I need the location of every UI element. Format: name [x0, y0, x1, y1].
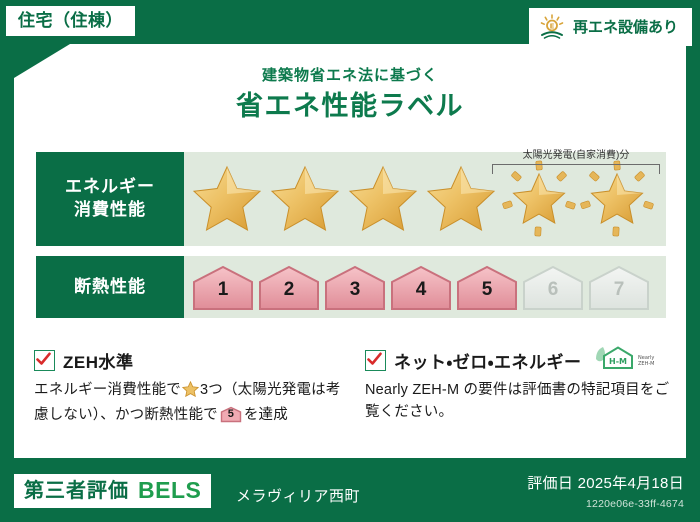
criterion-net-zero-energy: ネット・ゼロ・エネルギー H-M Nearly ZEH-M Nearly ZEH… — [365, 348, 674, 427]
category-tag: 住宅（住棟） — [6, 6, 135, 36]
insulation-levels: 1 2 3 — [184, 256, 666, 318]
insulation-row-label: 断熱性能 — [36, 256, 184, 318]
page-title: 省エネ性能ラベル — [0, 84, 700, 123]
criterion-zeh-level: ZEH水準 エネルギー消費性能で3つ（太陽光発電は考慮しない）、かつ断熱性能で5… — [34, 348, 343, 427]
star-filled — [422, 152, 500, 246]
solar-annotation-label: 太陽光発電(自家消費)分 — [492, 151, 660, 161]
checkbox-checked-icon — [34, 350, 55, 371]
insulation-level: 4 — [388, 256, 454, 318]
energy-label-line2: 消費性能 — [74, 199, 146, 222]
solar-annotation-bracket — [492, 164, 660, 174]
energy-performance-label: 住宅（住棟） E 再エネ設備あり 建築物省エネ法に基づく 省エネ性能ラベル — [0, 0, 700, 522]
criterion-header: ネット・ゼロ・エネルギー H-M Nearly ZEH-M — [365, 348, 674, 372]
insulation-level-number: 6 — [520, 280, 586, 299]
insulation-level-number: 7 — [586, 280, 652, 299]
checkbox-checked-icon — [365, 350, 386, 371]
energy-label-line1: エネルギー — [65, 176, 155, 199]
bels-logo-text: BELS — [138, 479, 201, 502]
insulation-level: 7 — [586, 256, 652, 318]
rating-rows: エネルギー 消費性能 太陽光発電(自家消費)分 — [36, 152, 666, 328]
insulation-level-number: 5 — [454, 280, 520, 299]
criterion-title: ネット・ゼロ・エネルギー — [394, 348, 582, 373]
renewable-energy-badge: E 再エネ設備あり — [529, 8, 692, 46]
criterion-title: ZEH水準 — [63, 348, 134, 373]
inline-badge-value: 5 — [220, 409, 242, 420]
energy-row-body: 太陽光発電(自家消費)分 — [184, 152, 666, 246]
insulation-level: 5 — [454, 256, 520, 318]
insulation-level: 6 — [520, 256, 586, 318]
star-filled — [188, 152, 266, 246]
star-filled — [344, 152, 422, 246]
criteria-section: ZEH水準 エネルギー消費性能で3つ（太陽光発電は考慮しない）、かつ断熱性能で5… — [34, 348, 674, 427]
criterion-body-post: を達成 — [244, 407, 288, 423]
insulation-level: 3 — [322, 256, 388, 318]
insulation-level-number: 3 — [322, 280, 388, 299]
solar-annotation: 太陽光発電(自家消費)分 — [492, 151, 660, 174]
inline-star-icon — [182, 385, 199, 401]
star-filled — [266, 152, 344, 246]
criterion-body-pre: エネルギー消費性能で — [34, 382, 181, 398]
insulation-level: 1 — [190, 256, 256, 318]
svg-text:E: E — [550, 23, 555, 31]
sun-icon: E — [539, 14, 565, 40]
bels-mark: 第三者評価 BELS — [14, 474, 211, 508]
bels-prefix-label: 第三者評価 — [24, 481, 129, 501]
svg-text:ZEH-M: ZEH-M — [638, 361, 654, 367]
label-subtitle: 建築物省エネ法に基づく — [0, 64, 700, 85]
insulation-level-number: 4 — [388, 280, 454, 299]
insulation-level-number: 2 — [256, 280, 322, 299]
evaluation-date: 評価日 2025年4月18日 — [527, 476, 684, 491]
insulation-level: 2 — [256, 256, 322, 318]
svg-text:H-M: H-M — [609, 357, 627, 366]
criterion-body: Nearly ZEH-M の要件は評価書の特記項目をご覧ください。 — [365, 379, 674, 424]
zeh-m-house-icon: H-M Nearly ZEH-M — [592, 345, 656, 376]
energy-performance-row: エネルギー 消費性能 太陽光発電(自家消費)分 — [36, 152, 666, 246]
project-name: メラヴィリア西町 — [236, 489, 360, 504]
criterion-header: ZEH水準 — [34, 348, 343, 372]
criterion-body: エネルギー消費性能で3つ（太陽光発電は考慮しない）、かつ断熱性能で5を達成 — [34, 379, 343, 427]
label-footer: 第三者評価 BELS メラヴィリア西町 評価日 2025年4月18日 1220e… — [0, 460, 700, 522]
insulation-performance-row: 断熱性能 1 — [36, 256, 666, 318]
renewable-badge-label: 再エネ設備あり — [573, 20, 678, 35]
insulation-row-body: 1 2 3 — [184, 256, 666, 318]
energy-row-label: エネルギー 消費性能 — [36, 152, 184, 246]
insulation-level-number: 1 — [190, 280, 256, 299]
evaluation-id: 1220e06e-33ff-4674 — [586, 499, 684, 510]
inline-insulation-badge: 5 — [220, 406, 242, 423]
